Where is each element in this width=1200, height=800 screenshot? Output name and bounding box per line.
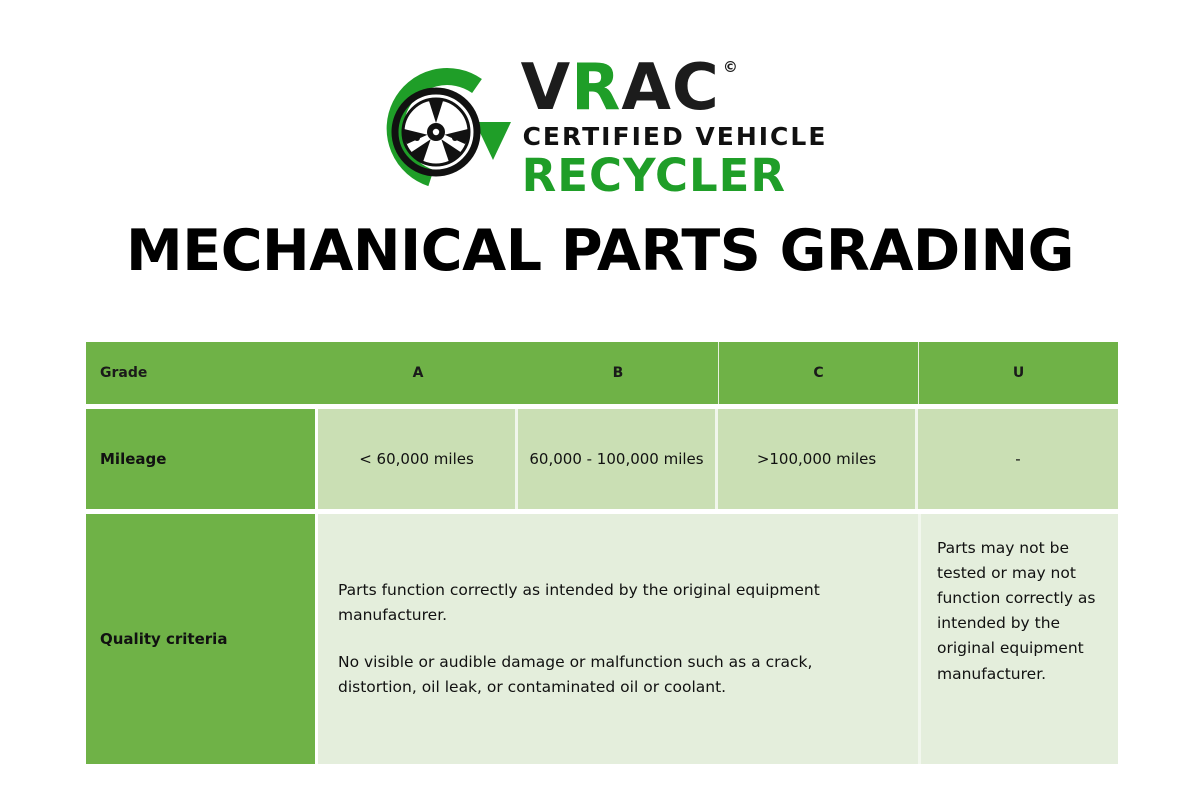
logo-tagline: CERTIFIED VEHICLE xyxy=(523,124,828,149)
mechanical-parts-grading-table: Grade A B C U Mileage < 60,000 miles 60,… xyxy=(86,342,1118,764)
header-c: C xyxy=(718,342,918,404)
logo-letter-v: V xyxy=(521,56,572,120)
table-row: Mileage < 60,000 miles 60,000 - 100,000 … xyxy=(86,409,1118,509)
quality-criteria-abc: Parts function correctly as intended by … xyxy=(318,514,918,764)
copyright-icon: © xyxy=(723,60,739,75)
logo-recycler-word: RECYCLER xyxy=(522,153,787,198)
logo-letter-r: R xyxy=(571,56,621,120)
logo-letters-ac: AC xyxy=(621,56,720,120)
row-label-quality-criteria: Quality criteria xyxy=(86,514,318,764)
mileage-grade-b: 60,000 - 100,000 miles xyxy=(518,409,718,509)
mileage-grade-a: < 60,000 miles xyxy=(318,409,518,509)
header-a: A xyxy=(318,342,518,404)
quality-criteria-paragraph-2: No visible or audible damage or malfunct… xyxy=(338,650,896,700)
page-title: MECHANICAL PARTS GRADING xyxy=(0,218,1200,284)
mileage-grade-c: >100,000 miles xyxy=(718,409,918,509)
header-grade: Grade xyxy=(86,342,318,404)
table-row: Quality criteria Parts function correctl… xyxy=(86,514,1118,764)
quality-criteria-paragraph-1: Parts function correctly as intended by … xyxy=(338,578,896,628)
logo-brand-name: VRAC© xyxy=(521,56,739,120)
logo-inner: VRAC© CERTIFIED VEHICLE RECYCLER xyxy=(373,54,828,198)
wheel-rim-with-recycle-arrow-icon xyxy=(373,56,515,196)
brand-logo: VRAC© CERTIFIED VEHICLE RECYCLER xyxy=(0,52,1200,200)
mileage-grade-u: - xyxy=(918,409,1118,509)
header-b: B xyxy=(518,342,718,404)
quality-criteria-u: Parts may not be tested or may not funct… xyxy=(918,514,1118,764)
header-u: U xyxy=(918,342,1118,404)
logo-wordmark: VRAC© CERTIFIED VEHICLE RECYCLER xyxy=(521,54,828,198)
table-header-row: Grade A B C U xyxy=(86,342,1118,404)
row-label-mileage: Mileage xyxy=(86,409,318,509)
